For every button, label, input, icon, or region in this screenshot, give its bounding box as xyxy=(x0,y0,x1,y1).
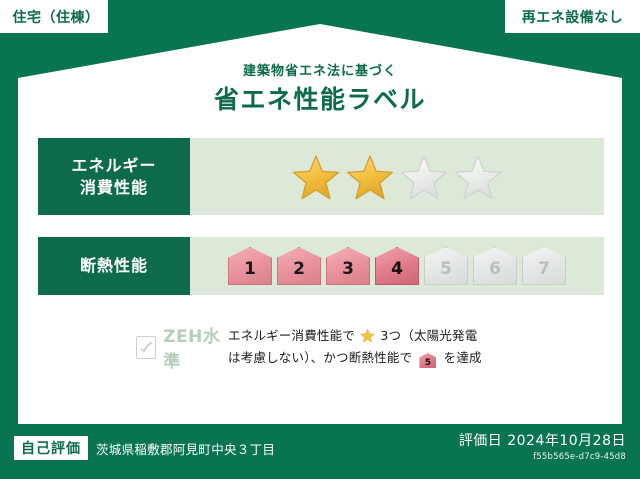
insulation-level-badge-3: 3 xyxy=(326,247,370,285)
energy-key-line2: 消費性能 xyxy=(80,177,148,199)
evaluation-id: f55b565e-d7c9-45d8 xyxy=(459,452,626,462)
badge-number: 5 xyxy=(440,261,452,285)
insulation-performance-row: 断熱性能 1234567 xyxy=(38,237,604,295)
footer-right-group: 評価日 2024年10月28日 f55b565e-d7c9-45d8 xyxy=(459,430,626,462)
zeh-label: ZEH水準 xyxy=(163,322,228,372)
star-empty-icon xyxy=(454,154,502,200)
badge-number: 2 xyxy=(293,261,305,285)
property-address: 茨城県稲敷郡阿見町中央３丁目 xyxy=(96,439,275,458)
label-footer: 自己評価 茨城県稲敷郡阿見町中央３丁目 評価日 2024年10月28日 f55b… xyxy=(0,424,640,479)
inline-star-icon xyxy=(360,328,375,343)
badge-number: 6 xyxy=(489,261,501,285)
insulation-level-badge-6: 6 xyxy=(473,247,517,285)
zeh-description-line2: は考慮しない）、かつ断熱性能で 5 を達成 xyxy=(228,347,604,369)
evaluation-date-value: 2024年10月28日 xyxy=(507,433,626,449)
label-subtitle: 建築物省エネ法に基づく xyxy=(18,60,622,79)
badge-number: 3 xyxy=(342,261,354,285)
zeh-check-icon xyxy=(136,336,156,359)
energy-performance-row: エネルギー 消費性能 xyxy=(38,138,604,215)
star-empty-icon xyxy=(400,154,448,200)
zeh-description: エネルギー消費性能で 3つ（太陽光発電 は考慮しない）、かつ断熱性能で 5 xyxy=(228,325,604,369)
zeh-desc-line1-b: 3つ（太陽光発電 xyxy=(380,328,477,343)
zeh-desc-line2-b: を達成 xyxy=(444,350,482,365)
insulation-levels: 1234567 xyxy=(190,237,604,295)
footer-left-group: 自己評価 茨城県稲敷郡阿見町中央３丁目 xyxy=(14,436,275,460)
zeh-description-line1: エネルギー消費性能で 3つ（太陽光発電 xyxy=(228,325,604,347)
zeh-desc-line2-a: は考慮しない）、かつ断熱性能で xyxy=(228,350,412,365)
badge-number: 7 xyxy=(538,261,550,285)
label-panel: 建築物省エネ法に基づく 省エネ性能ラベル エネルギー 消費性能 断熱性能 123… xyxy=(18,24,622,424)
zeh-mark: ZEH水準 xyxy=(38,322,228,372)
zeh-desc-line1-a: エネルギー消費性能で xyxy=(228,328,355,343)
inline-level-badge: 5 xyxy=(419,353,436,368)
renewable-equipment-tag: 再エネ設備なし xyxy=(505,0,640,33)
zeh-standard-row: ZEH水準 エネルギー消費性能で 3つ（太陽光発電 は考慮しない）、かつ断熱性能 xyxy=(38,316,604,378)
energy-performance-label-key: エネルギー 消費性能 xyxy=(38,138,190,215)
insulation-level-badge-2: 2 xyxy=(277,247,321,285)
badge-number: 4 xyxy=(391,261,403,285)
insulation-key-line1: 断熱性能 xyxy=(80,255,148,277)
building-type-tag: 住宅（住棟） xyxy=(0,0,108,33)
badge-number: 1 xyxy=(244,261,256,285)
insulation-level-badge-7: 7 xyxy=(522,247,566,285)
energy-performance-label: 住宅（住棟） 再エネ設備なし 建築物省エネ法に基づく 省エネ性能ラベル エネルギ… xyxy=(0,0,640,479)
insulation-level-badge-5: 5 xyxy=(424,247,468,285)
inline-level-badge-num: 5 xyxy=(419,353,436,373)
page-title: 省エネ性能ラベル xyxy=(18,80,622,116)
insulation-level-badge-1: 1 xyxy=(228,247,272,285)
evaluation-date-label: 評価日 xyxy=(459,433,503,449)
self-evaluation-badge: 自己評価 xyxy=(14,436,88,460)
star-filled-icon xyxy=(346,154,394,200)
evaluation-date: 評価日 2024年10月28日 xyxy=(459,430,626,450)
insulation-performance-label-key: 断熱性能 xyxy=(38,237,190,295)
insulation-level-badge-4: 4 xyxy=(375,247,419,285)
energy-key-line1: エネルギー xyxy=(71,155,156,177)
star-rating xyxy=(190,138,604,215)
star-filled-icon xyxy=(292,154,340,200)
